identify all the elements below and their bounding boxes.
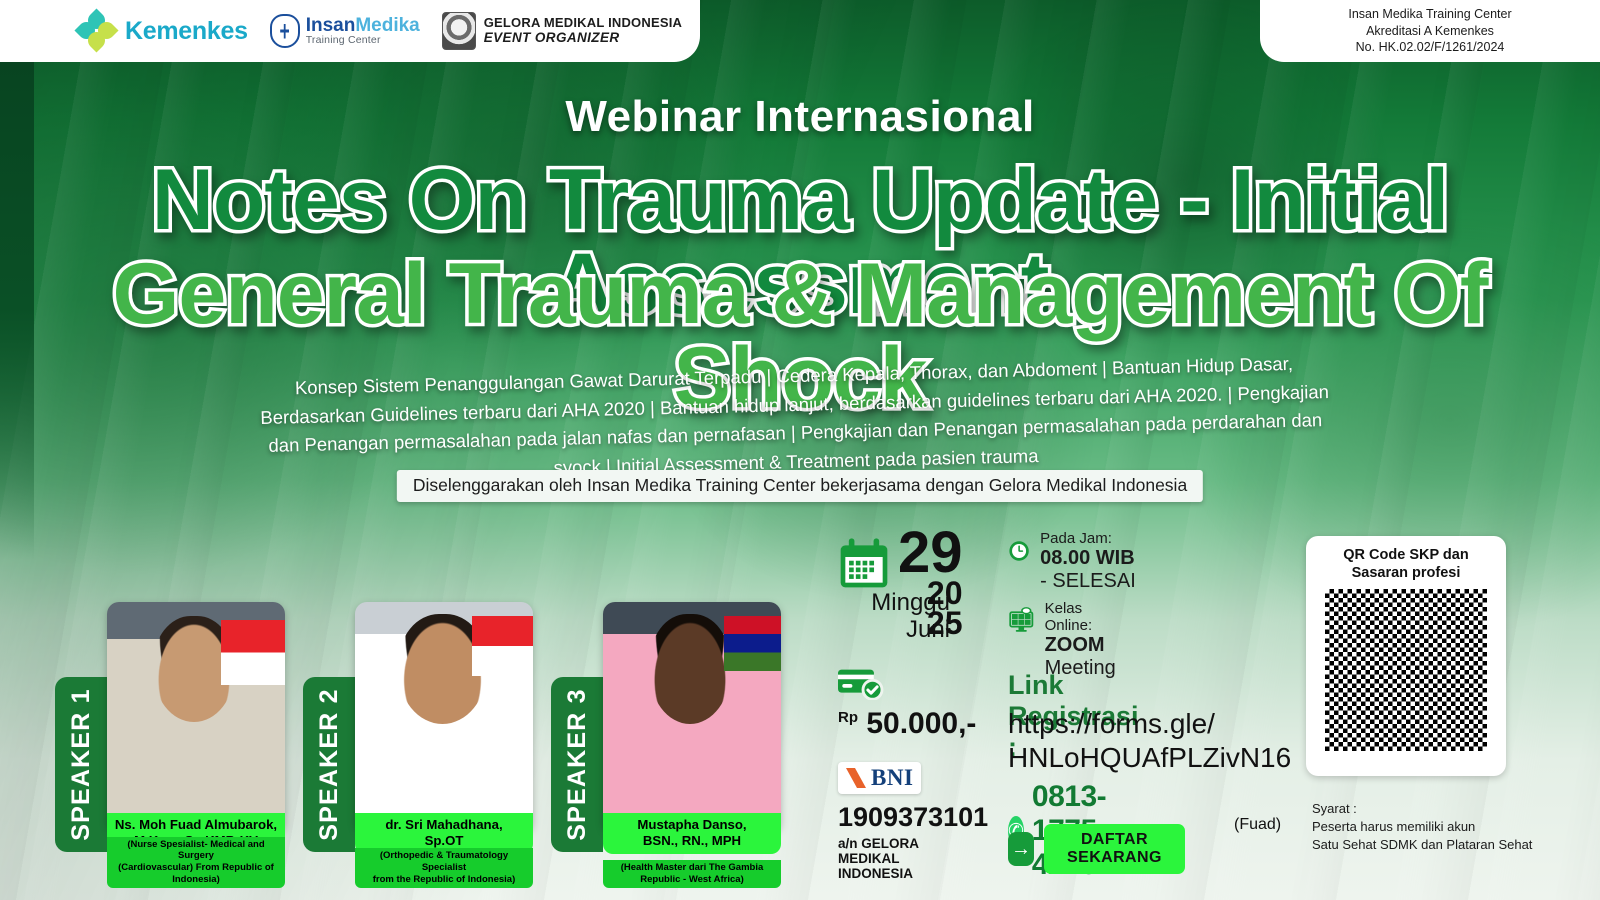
time-label: Pada Jam: bbox=[1040, 530, 1143, 547]
calendar-icon bbox=[836, 536, 892, 592]
event-weekday: Minggu bbox=[840, 590, 950, 617]
online-class-icon bbox=[1008, 600, 1035, 640]
gelora-medikal-logo: GELORA MEDIKAL INDONESIA EVENT ORGANIZER bbox=[442, 12, 682, 50]
insan-label-part2: Medika bbox=[355, 15, 419, 36]
webinar-poster: Kemenkes InsanMedika Training Center GEL… bbox=[0, 0, 1600, 900]
whatsapp-owner: (Fuad) bbox=[1234, 816, 1281, 834]
bank-name: BNI bbox=[871, 765, 913, 791]
time-value-rest: - SELESAI bbox=[1040, 570, 1136, 592]
register-cta[interactable]: → DAFTAR SEKARANG bbox=[1008, 824, 1185, 874]
register-now-button[interactable]: DAFTAR SEKARANG bbox=[1044, 824, 1185, 874]
speaker-2-tab: SPEAKER 2 bbox=[303, 677, 355, 852]
gelora-sublabel: EVENT ORGANIZER bbox=[484, 31, 682, 46]
qr-code-image[interactable] bbox=[1325, 589, 1487, 751]
requirements-note: Syarat : Peserta harus memiliki akun Sat… bbox=[1312, 800, 1532, 854]
kemenkes-logo: Kemenkes bbox=[78, 12, 248, 50]
insan-sublabel: Training Center bbox=[306, 35, 420, 46]
speaker-3-role: (Health Master dari The Gambia Republic … bbox=[603, 860, 781, 888]
organizer-banner: Diselenggarakan oleh Insan Medika Traini… bbox=[397, 470, 1203, 502]
insan-medika-logo: InsanMedika Training Center bbox=[270, 14, 420, 48]
bni-mark-icon bbox=[846, 768, 866, 788]
header-logo-bar: Kemenkes InsanMedika Training Center GEL… bbox=[0, 0, 700, 62]
time-value-bold: 08.00 WIB bbox=[1040, 547, 1134, 569]
requirements-line-1: Syarat : bbox=[1312, 800, 1532, 818]
platform-value-bold: ZOOM bbox=[1045, 634, 1105, 656]
qr-code-panel: QR Code SKP dan Sasaran profesi bbox=[1306, 536, 1506, 776]
price-block: Rp 50.000,- bbox=[838, 668, 976, 741]
gelora-label: GELORA MEDIKAL INDONESIA bbox=[484, 16, 682, 30]
speaker-1-tab: SPEAKER 1 bbox=[55, 677, 107, 852]
accreditation-line-1: Insan Medika Training Center bbox=[1348, 6, 1511, 23]
qr-caption-line-2: Sasaran profesi bbox=[1316, 564, 1496, 582]
kemenkes-icon bbox=[78, 12, 116, 50]
event-date-block: 29 20 25 Minggu Juni bbox=[836, 528, 963, 639]
accreditation-line-3: No. HK.02.02/F/1261/2024 bbox=[1356, 39, 1505, 56]
speaker-1-tab-label: SPEAKER 1 bbox=[67, 688, 96, 841]
speaker-2-photo bbox=[355, 602, 533, 832]
speaker-3-tab: SPEAKER 3 bbox=[551, 677, 603, 852]
payment-card-icon bbox=[838, 668, 884, 700]
requirements-line-2: Peserta harus memiliki akun bbox=[1312, 818, 1532, 836]
insan-label-part1: Insan bbox=[306, 15, 356, 36]
qr-caption-line-1: QR Code SKP dan bbox=[1316, 546, 1496, 564]
kemenkes-label: Kemenkes bbox=[125, 17, 248, 46]
gelora-seal-icon bbox=[442, 12, 476, 50]
event-month: Juni bbox=[840, 617, 950, 644]
arrow-right-icon[interactable]: → bbox=[1008, 832, 1034, 866]
price-value: 50.000,- bbox=[866, 707, 976, 740]
platform-label: Kelas Online: bbox=[1045, 600, 1132, 634]
speaker-3-tab-label: SPEAKER 3 bbox=[563, 688, 592, 841]
speaker-3-photo bbox=[603, 602, 781, 832]
registration-url-line-1[interactable]: https://forms.gle/ bbox=[1008, 708, 1215, 740]
accreditation-block: Insan Medika Training Center Akreditasi … bbox=[1260, 0, 1600, 62]
insan-medika-icon bbox=[270, 14, 300, 48]
event-platform-block: Kelas Online: ZOOM Meeting bbox=[1008, 600, 1131, 680]
event-time-block: Pada Jam: 08.00 WIB - SELESAI bbox=[1008, 530, 1143, 593]
event-day-number: 29 bbox=[898, 528, 963, 578]
speaker-2-tab-label: SPEAKER 2 bbox=[315, 688, 344, 841]
speaker-1-role: (Nurse Spesialist- Medical and Surgery (… bbox=[107, 837, 285, 889]
speaker-3-name: Mustapha Danso, BSN., RN., MPH bbox=[603, 813, 781, 854]
bank-account-number: 1909373101 bbox=[838, 802, 988, 833]
speaker-1-photo bbox=[107, 602, 285, 832]
requirements-line-3: Satu Sehat SDMK dan Plataran Sehat bbox=[1312, 836, 1532, 854]
speaker-2-role: (Orthopedic & Traumatology Specialist fr… bbox=[355, 848, 533, 888]
event-kicker: Webinar Internasional bbox=[0, 92, 1600, 142]
clock-icon bbox=[1008, 530, 1030, 572]
event-details-section: 29 20 25 Minggu Juni Pada Jam: 08.00 WIB… bbox=[836, 528, 963, 639]
registration-url-line-2[interactable]: HNLoHQUAfPLZivN16 bbox=[1008, 742, 1291, 774]
bank-logo: BNI bbox=[838, 762, 921, 794]
accreditation-line-2: Akreditasi A Kemenkes bbox=[1366, 23, 1494, 40]
price-currency: Rp bbox=[838, 709, 858, 726]
bank-account-holder: a/n GELORA MEDIKAL INDONESIA bbox=[838, 836, 963, 881]
